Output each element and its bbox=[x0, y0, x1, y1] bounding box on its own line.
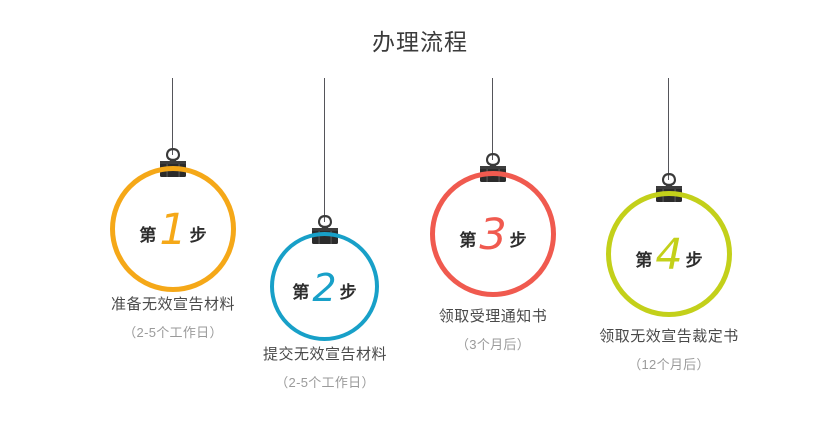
infographic-canvas: 办理流程 第 1 步 准备无效宣告材料 （2-5个工作日） bbox=[0, 0, 840, 424]
step-number-prefix-3: 第 bbox=[459, 226, 476, 251]
step-number-2: 第 2 步 bbox=[270, 266, 379, 304]
hanging-string-3 bbox=[492, 78, 493, 160]
step-subcaption-4: （12个月后） bbox=[539, 354, 799, 376]
page-title: 办理流程 bbox=[0, 26, 840, 58]
step-subcaption-1: （2-5个工作日） bbox=[43, 322, 303, 344]
step-caption-4: 领取无效宣告裁定书 bbox=[539, 326, 799, 348]
step-caption-3: 领取受理通知书 bbox=[363, 306, 623, 328]
step-number-prefix-2: 第 bbox=[292, 278, 309, 303]
step-number-4: 第 4 步 bbox=[606, 231, 732, 274]
step-caption-block-1: 准备无效宣告材料 （2-5个工作日） bbox=[43, 294, 303, 344]
hanging-string-4 bbox=[668, 78, 669, 180]
step-number-prefix-1: 第 bbox=[139, 221, 156, 246]
step-number-suffix-4: 步 bbox=[686, 246, 703, 271]
step-caption-1: 准备无效宣告材料 bbox=[43, 294, 303, 316]
step-number-value-3: 3 bbox=[479, 214, 506, 257]
step-number-suffix-2: 步 bbox=[340, 278, 357, 303]
hanging-string-1 bbox=[172, 78, 173, 155]
step-number-1: 第 1 步 bbox=[110, 206, 236, 249]
step-subcaption-2: （2-5个工作日） bbox=[195, 372, 455, 394]
step-number-value-1: 1 bbox=[159, 209, 186, 252]
step-number-value-4: 4 bbox=[655, 234, 682, 277]
step-number-suffix-1: 步 bbox=[190, 221, 207, 246]
step-number-3: 第 3 步 bbox=[430, 211, 556, 254]
step-number-prefix-4: 第 bbox=[635, 246, 652, 271]
step-number-suffix-3: 步 bbox=[510, 226, 527, 251]
step-caption-block-4: 领取无效宣告裁定书 （12个月后） bbox=[539, 326, 799, 376]
step-number-value-2: 2 bbox=[312, 269, 336, 307]
hanging-string-2 bbox=[324, 78, 325, 222]
